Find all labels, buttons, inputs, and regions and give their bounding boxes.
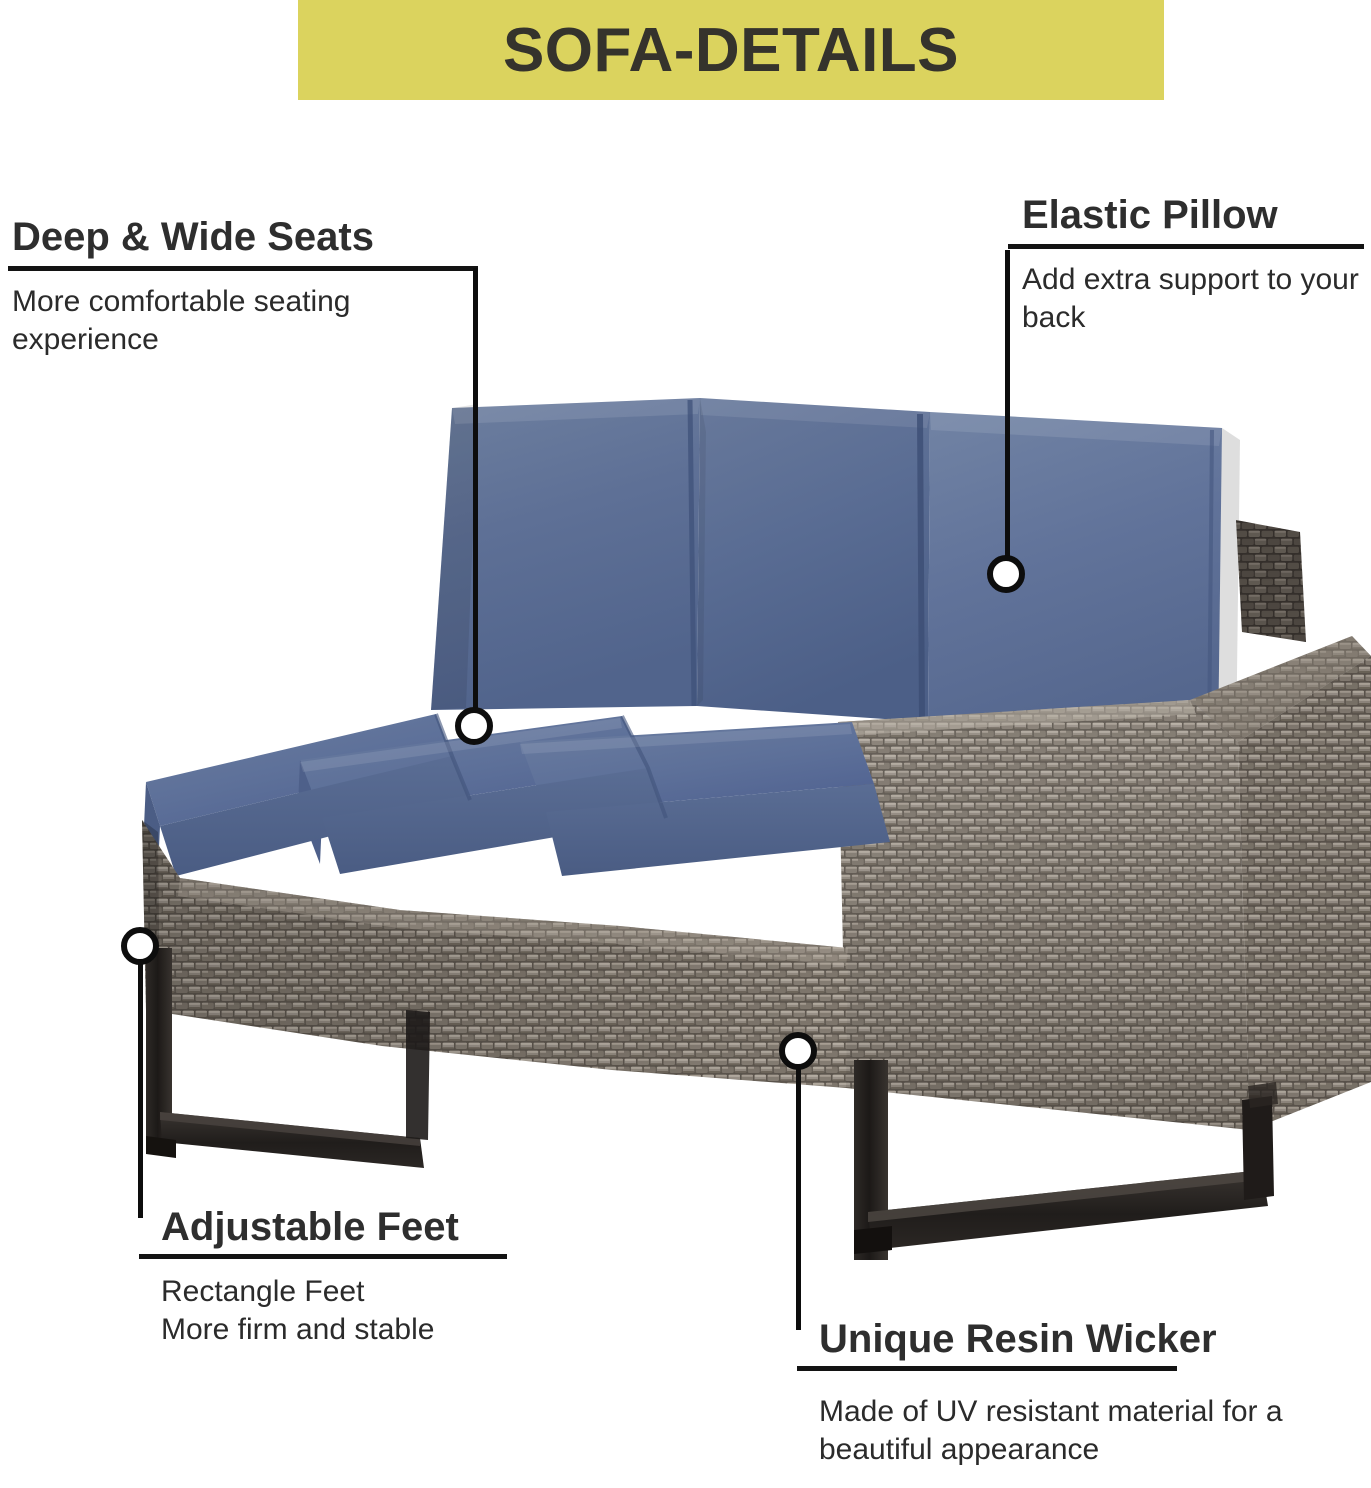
- page-title: SOFA-DETAILS: [503, 15, 959, 86]
- callout-adjustable-feet: Adjustable Feet Rectangle Feet More firm…: [139, 1206, 559, 1350]
- callout-divider: [139, 1254, 507, 1259]
- callout-title-elastic-pillow: Elastic Pillow: [1022, 194, 1364, 236]
- callout-title-deep-wide-seats: Deep & Wide Seats: [12, 216, 478, 258]
- callout-body-deep-wide-seats: More comfortable seating experience: [12, 283, 474, 360]
- callout-marker-unique-resin-wicker: [779, 1032, 817, 1070]
- callout-divider: [8, 266, 478, 271]
- infographic-page: SOFA-DETAILS: [0, 0, 1371, 1488]
- callout-marker-elastic-pillow: [987, 555, 1025, 593]
- callout-deep-wide-seats: Deep & Wide Seats More comfortable seati…: [8, 216, 478, 360]
- callout-title-adjustable-feet: Adjustable Feet: [161, 1206, 559, 1248]
- leader-line-deep-wide-seats: [473, 268, 478, 728]
- callout-title-unique-resin-wicker: Unique Resin Wicker: [819, 1318, 1367, 1360]
- leader-line-adjustable-feet: [138, 960, 143, 1218]
- callout-divider: [797, 1366, 1177, 1371]
- back-cushion-left: [431, 398, 700, 710]
- leader-line-unique-resin-wicker: [796, 1068, 801, 1330]
- leader-line-elastic-pillow: [1005, 250, 1010, 575]
- callout-body-elastic-pillow: Add extra support to your back: [1022, 261, 1362, 338]
- callout-body-adjustable-feet: Rectangle Feet More firm and stable: [161, 1273, 559, 1350]
- back-cushion-center: [697, 398, 930, 722]
- callout-marker-adjustable-feet: [121, 927, 159, 965]
- sofa-product-illustration: [0, 370, 1371, 1270]
- callout-unique-resin-wicker: Unique Resin Wicker Made of UV resistant…: [797, 1318, 1367, 1470]
- callout-body-unique-resin-wicker: Made of UV resistant material for a beau…: [819, 1393, 1367, 1470]
- callout-marker-deep-wide-seats: [455, 707, 493, 745]
- header-banner: SOFA-DETAILS: [298, 0, 1164, 100]
- callout-elastic-pillow: Elastic Pillow Add extra support to your…: [1008, 194, 1364, 338]
- callout-divider: [1008, 244, 1364, 249]
